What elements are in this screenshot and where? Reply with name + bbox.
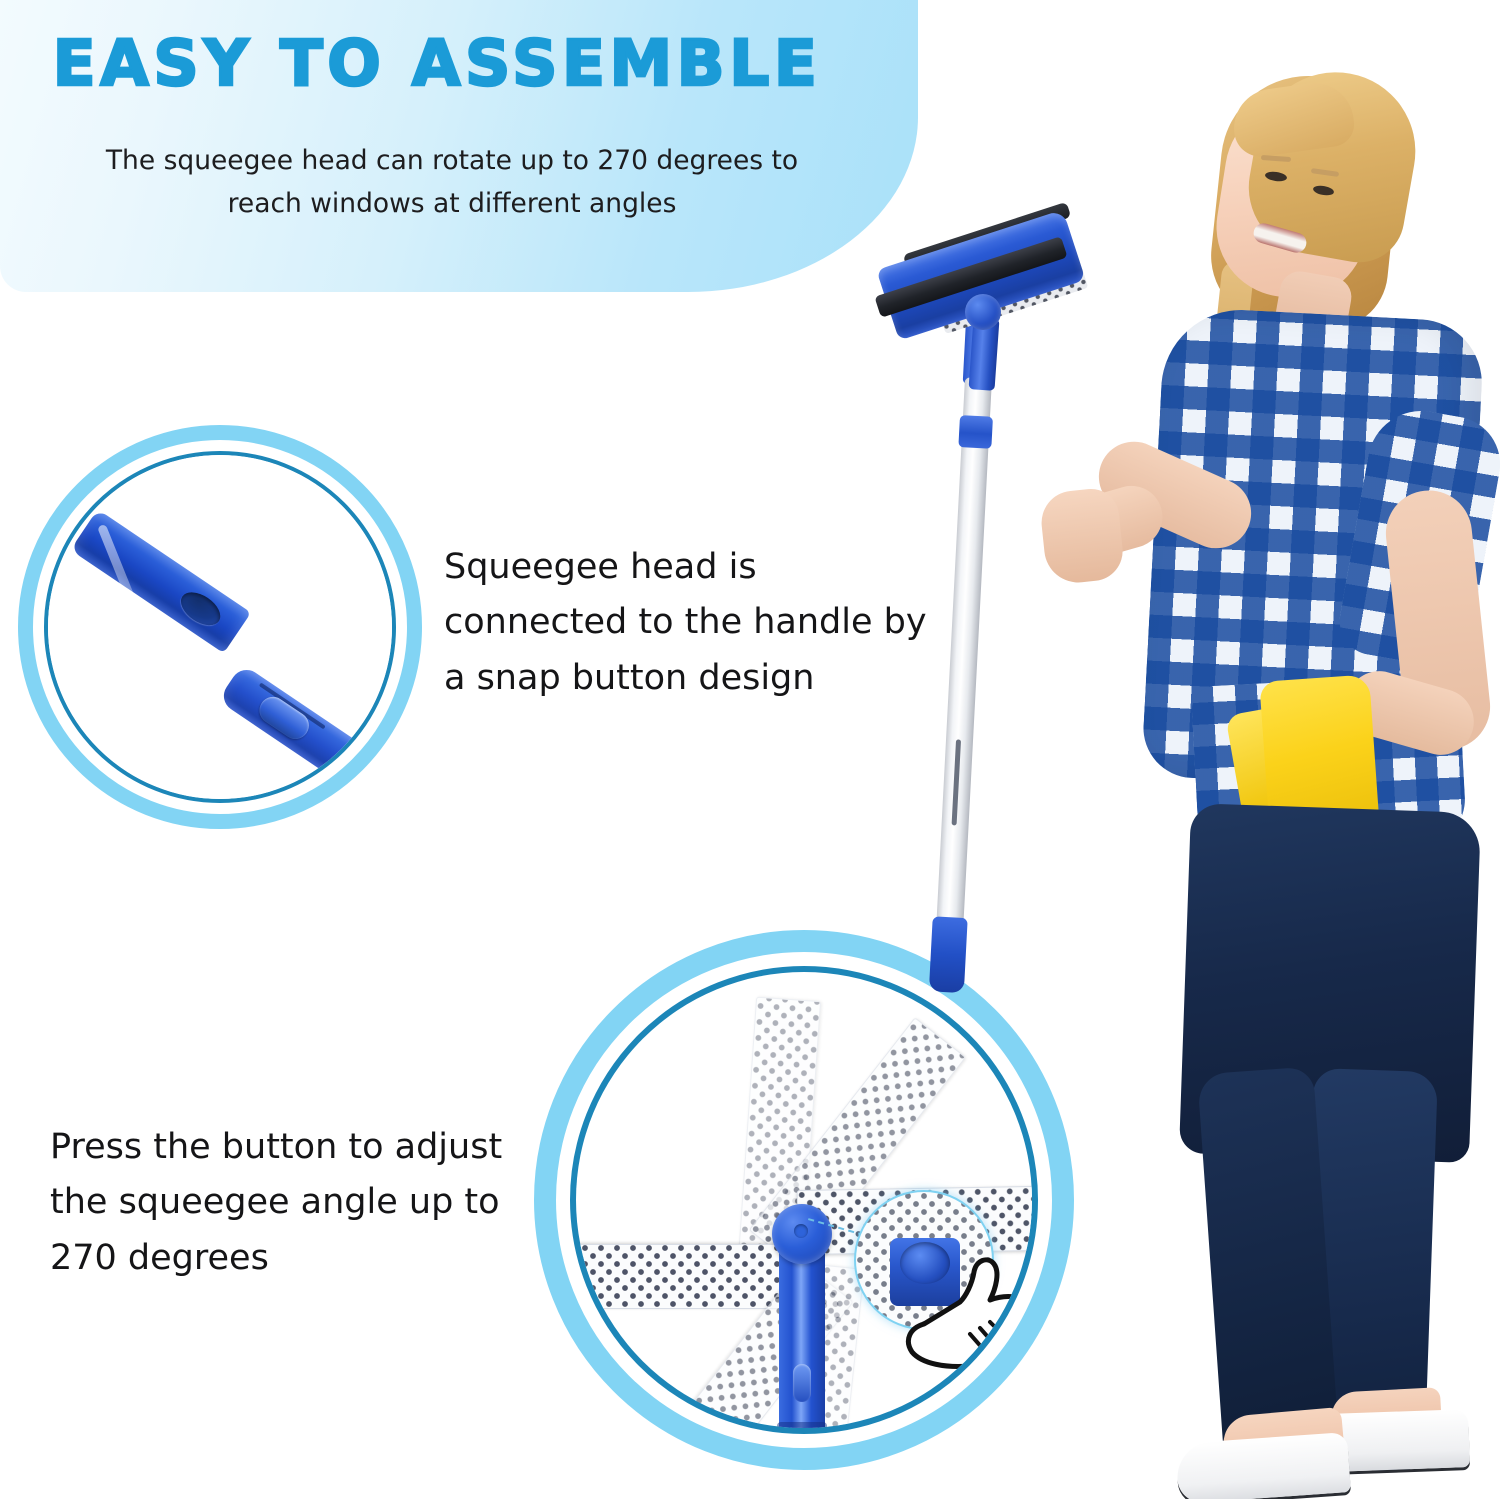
head-pivot-hub (965, 294, 1001, 330)
shoe-front (1175, 1432, 1351, 1499)
snap-button-callout (18, 425, 422, 829)
pole-collar (958, 415, 993, 449)
pole-end-cap (929, 916, 968, 993)
header-banner: EASY TO ASSEMBLE The squeegee head can r… (0, 0, 918, 292)
pole-tube (933, 377, 992, 988)
page-title: EASY TO ASSEMBLE (0, 32, 918, 95)
callout-face (48, 455, 392, 799)
squeegee-handle (779, 1244, 825, 1428)
infographic-canvas: EASY TO ASSEMBLE The squeegee head can r… (0, 0, 1500, 1499)
page-subtitle: The squeegee head can rotate up to 270 d… (80, 140, 824, 226)
handle-button-icon (793, 1364, 811, 1402)
pole-upper-segment (70, 509, 251, 653)
pole-tip (348, 753, 392, 799)
handle-joint (777, 1422, 827, 1428)
hand-gripping-pole (1038, 486, 1125, 586)
snap-button-text: Squeegee head is connected to the handle… (444, 540, 944, 706)
telescoping-pole (933, 377, 992, 988)
squeegee-head (883, 210, 1103, 390)
pole-lower-segment (218, 664, 375, 790)
rotation-text: Press the button to adjust the squeegee … (50, 1120, 550, 1286)
pole-highlight (97, 524, 162, 666)
pointing-hand-icon (894, 1240, 1032, 1375)
rotation-pivot-icon (772, 1204, 832, 1264)
